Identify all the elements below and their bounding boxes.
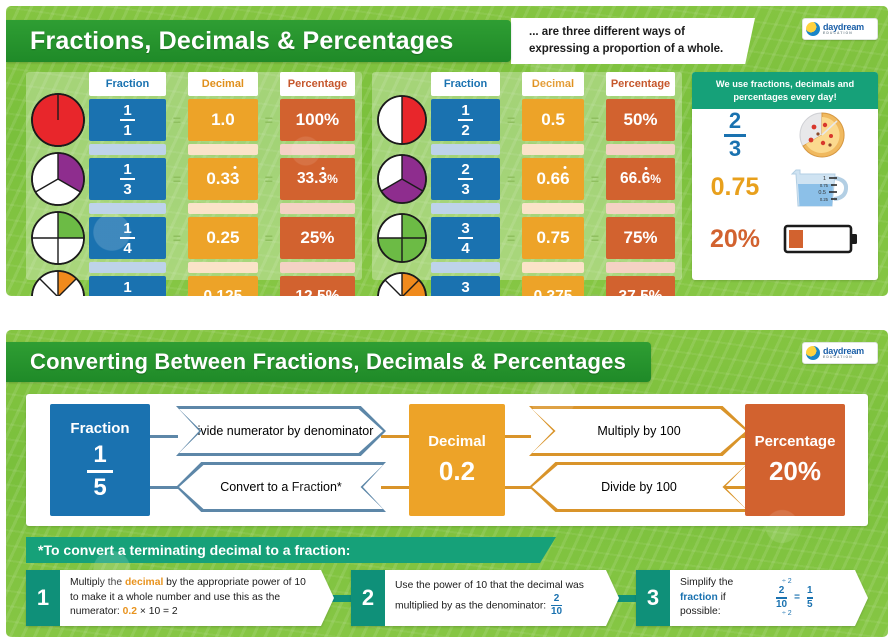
table-1-body: 11 = 1.0 = 100% 13 = 0.33 = — [30, 99, 358, 296]
flow-node-fraction: Fraction 1 5 — [50, 404, 150, 516]
table-row: 13 = 0.33 = 33.3% — [30, 158, 358, 200]
equals-sign: = — [587, 171, 603, 187]
everyday-frac-den: 3 — [729, 138, 741, 160]
subtitle-callout: ... are three different ways of expressi… — [511, 18, 755, 64]
step-3-fraction-right: 1 5 — [807, 586, 813, 610]
fraction-pie-icon — [376, 94, 428, 146]
equals-sign: = — [503, 230, 519, 246]
flow-node-decimal-label: Decimal — [428, 433, 486, 450]
step-3-frac2-num: 1 — [807, 586, 813, 596]
daydream-mark-icon — [806, 22, 820, 36]
step-1-text-a: Multiply the — [70, 577, 125, 588]
table-2-header-row: Fraction Decimal Percentage — [376, 72, 678, 96]
steps-heading-bar: *To convert a terminating decimal to a f… — [26, 537, 556, 563]
flow-percentage-value: 20% — [769, 456, 821, 487]
table-row: 12 = 0.5 = 50% — [376, 99, 678, 141]
equals-sign: = — [261, 289, 277, 296]
column-header-fraction-2: Fraction — [431, 72, 500, 96]
step-3-text-a: Simplify the — [680, 577, 733, 588]
cell-decimal: 0.125 — [188, 276, 258, 296]
cell-decimal: 0.375 — [522, 276, 584, 296]
everyday-frac-num: 2 — [729, 110, 741, 132]
fraction-pie-icon — [376, 153, 428, 205]
step-3: 3 Simplify the fraction if possible: ÷ 2… — [636, 570, 868, 626]
cell-percentage: 12.5% — [280, 276, 355, 296]
equals-sign: = — [503, 112, 519, 128]
cell-decimal: 0.25 — [188, 217, 258, 259]
column-header-decimal-2: Decimal — [522, 72, 584, 96]
flow-node-decimal: Decimal 0.2 — [409, 404, 505, 516]
cell-decimal: 0.5 — [522, 99, 584, 141]
flow-node-fraction-label: Fraction — [70, 420, 129, 437]
cell-percentage: 66.6% — [606, 158, 675, 200]
conversion-table-2: Fraction Decimal Percentage 12 = 0.5 = 5… — [372, 72, 682, 280]
step-2-fraction: 2 10 — [551, 594, 562, 618]
cell-decimal: 0.33 — [188, 158, 258, 200]
fraction-pie-icon — [376, 212, 428, 264]
cell-percentage: 100% — [280, 99, 355, 141]
table-row: 34 = 0.75 = 75% — [376, 217, 678, 259]
fraction-pie-icon — [30, 92, 86, 148]
everyday-fraction-value: 2 3 — [698, 110, 772, 160]
flow-arrow-divide-numerator-label: Divide numerator by denominator — [189, 423, 374, 439]
daydream-mark-icon-2 — [806, 346, 820, 360]
equals-sign: = — [587, 230, 603, 246]
flow-node-percentage: Percentage 20% — [745, 404, 845, 516]
table-row: 11 = 1.0 = 100% — [30, 99, 358, 141]
equals-sign: = — [587, 112, 603, 128]
cell-percentage: 75% — [606, 217, 675, 259]
fraction-pie-icon — [30, 151, 86, 207]
cell-percentage: 37.5% — [606, 276, 675, 296]
brand-tagline-2: EDUCATION — [823, 356, 864, 359]
everyday-decimal-value: 0.75 — [698, 173, 772, 202]
svg-text:1: 1 — [823, 176, 826, 182]
table-row: 18 = 0.125 = 12.5% — [30, 276, 358, 296]
cell-fraction: 11 — [89, 99, 166, 141]
step-2-frac-num: 2 — [554, 594, 560, 604]
fraction-pie-icon — [376, 271, 428, 296]
equals-sign: = — [169, 230, 185, 246]
battery-illustration — [772, 222, 872, 256]
flow-arrow-multiply-by-100: Multiply by 100 — [529, 406, 749, 456]
equals-sign: = — [169, 289, 185, 296]
column-header-percentage-2: Percentage — [606, 72, 675, 96]
cell-percentage: 33.3% — [280, 158, 355, 200]
equals-sign: = — [169, 112, 185, 128]
table-row: 14 = 0.25 = 25% — [30, 217, 358, 259]
step-1-body: Multiply the decimal by the appropriate … — [60, 570, 334, 626]
brand-logo-bottom: daydream EDUCATION — [802, 342, 878, 364]
cell-fraction: 23 — [431, 158, 500, 200]
cell-fraction: 38 — [431, 276, 500, 296]
table-2-body: 12 = 0.5 = 50% 23 = 0.66 = — [376, 99, 678, 296]
flow-decimal-value: 0.2 — [439, 456, 475, 487]
column-header-fraction: Fraction — [89, 72, 166, 96]
flow-fraction-numerator: 1 — [93, 443, 106, 467]
fraction-pie-icon — [30, 210, 86, 266]
poster-top-title-bar: Fractions, Decimals & Percentages — [6, 20, 511, 62]
everyday-examples-panel: We use fractions, decimals and percentag… — [692, 72, 878, 280]
cell-fraction: 14 — [89, 217, 166, 259]
subtitle-text: ... are three different ways of expressi… — [529, 24, 741, 57]
step-1: 1 Multiply the decimal by the appropriat… — [26, 570, 334, 626]
equals-sign: = — [261, 171, 277, 187]
step-3-frac2-den: 5 — [807, 600, 813, 610]
step-3-number: 3 — [636, 570, 670, 626]
conversion-flow-diagram: Fraction 1 5 Divide numerator by denomin… — [26, 394, 868, 526]
measuring-jug-illustration: 1 0.75 0.5 0.25 — [772, 162, 872, 212]
equals-sign: = — [503, 171, 519, 187]
column-header-decimal: Decimal — [188, 72, 258, 96]
poster-fractions-decimals-percentages: Fractions, Decimals & Percentages ... ar… — [6, 6, 888, 296]
step-2-number: 2 — [351, 570, 385, 626]
step-2-frac-den: 10 — [551, 607, 562, 617]
step-1-number: 1 — [26, 570, 60, 626]
flow-arrow-multiply-by-100-label: Multiply by 100 — [597, 423, 680, 439]
everyday-percentage-value: 20% — [698, 225, 772, 254]
step-3-highlight-fraction: fraction — [680, 592, 718, 603]
cell-fraction: 12 — [431, 99, 500, 141]
cell-fraction: 34 — [431, 217, 500, 259]
cell-decimal: 1.0 — [188, 99, 258, 141]
equals-sign: = — [261, 230, 277, 246]
cell-decimal: 0.75 — [522, 217, 584, 259]
step-2: 2 Use the power of 10 that the decimal w… — [351, 570, 619, 626]
fraction-pie-icon — [30, 269, 86, 296]
brand-logo-top: daydream EDUCATION — [802, 18, 878, 40]
column-header-percentage: Percentage — [280, 72, 355, 96]
table-row: 23 = 0.66 = 66.6% — [376, 158, 678, 200]
step-2-body: Use the power of 10 that the decimal was… — [385, 570, 619, 626]
equals-sign: = — [169, 171, 185, 187]
step-3-fraction-left: 2 10 — [776, 586, 787, 610]
converting-title: Converting Between Fractions, Decimals &… — [30, 349, 626, 375]
flow-arrow-convert-to-fraction: Convert to a Fraction* — [176, 462, 386, 512]
step-1-text-c: × 10 = 2 — [137, 606, 178, 617]
conversion-table-1: Fraction Decimal Percentage 11 = 1.0 = 1… — [26, 72, 362, 280]
equals-sign: = — [503, 289, 519, 296]
everyday-row-jug: 0.75 1 0.75 0.5 — [692, 161, 878, 213]
svg-text:0.25: 0.25 — [820, 197, 829, 202]
equals-sign: = — [587, 289, 603, 296]
step-3-divide-bottom: ÷ 2 — [782, 609, 792, 619]
cell-fraction: 13 — [89, 158, 166, 200]
flow-arrow-divide-by-100-label: Divide by 100 — [601, 479, 677, 495]
page-title: Fractions, Decimals & Percentages — [30, 27, 453, 56]
everyday-row-pizza: 2 3 — [692, 109, 878, 161]
flow-arrow-convert-to-fraction-label: Convert to a Fraction* — [220, 479, 342, 495]
step-3-body: Simplify the fraction if possible: ÷ 2 ÷… — [670, 570, 868, 626]
cell-percentage: 50% — [606, 99, 675, 141]
cell-decimal: 0.66 — [522, 158, 584, 200]
brand-tagline: EDUCATION — [823, 32, 864, 35]
poster-page: Fractions, Decimals & Percentages ... ar… — [0, 0, 894, 643]
flow-arrow-divide-by-100: Divide by 100 — [529, 462, 749, 512]
step-3-frac1-num: 2 — [779, 586, 785, 596]
cell-fraction: 18 — [89, 276, 166, 296]
poster-bottom-title-bar: Converting Between Fractions, Decimals &… — [6, 342, 651, 382]
flow-arrow-divide-numerator: Divide numerator by denominator — [176, 406, 386, 456]
everyday-heading: We use fractions, decimals and percentag… — [692, 72, 878, 109]
step-1-highlight-decimal: decimal — [125, 577, 163, 588]
cell-percentage: 25% — [280, 217, 355, 259]
everyday-row-battery: 20% — [692, 213, 878, 265]
flow-fraction-denominator: 5 — [93, 476, 106, 500]
svg-text:0.5: 0.5 — [818, 190, 826, 196]
poster-converting: Converting Between Fractions, Decimals &… — [6, 330, 888, 637]
step-3-equals: = — [794, 591, 800, 606]
steps-heading-text: *To convert a terminating decimal to a f… — [38, 542, 350, 558]
table-row: 38 = 0.375 = 37.5% — [376, 276, 678, 296]
flow-node-percentage-label: Percentage — [755, 433, 836, 450]
equals-sign: = — [261, 112, 277, 128]
step-1-highlight-value: 0.2 — [123, 606, 137, 617]
pizza-illustration — [772, 111, 872, 159]
step-3-divide-top: ÷ 2 — [782, 577, 792, 587]
svg-text:0.75: 0.75 — [820, 183, 829, 188]
